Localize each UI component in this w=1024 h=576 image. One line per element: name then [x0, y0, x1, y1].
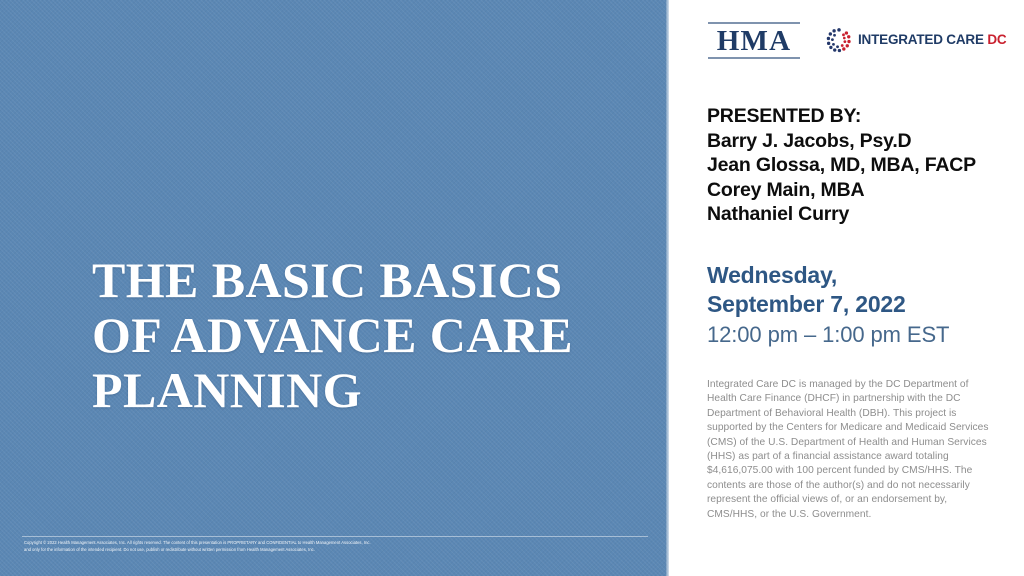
title-panel: The Basic Basics of Advance Care Plannin…: [0, 0, 669, 576]
presenter-name-3: Corey Main, MBA: [707, 178, 1017, 203]
integrated-care-dc-wordmark: INTEGRATED CARE DC: [858, 33, 1006, 47]
hma-logo: HMA: [708, 22, 800, 59]
presenter-name-2: Jean Glossa, MD, MBA, FACP: [707, 153, 1017, 178]
icdc-word-accent: DC: [987, 32, 1006, 47]
copyright-line-2: and only for the information of the inte…: [24, 547, 640, 554]
presented-by-heading: PRESENTED BY:: [707, 104, 1017, 129]
event-date: September 7, 2022: [707, 290, 1017, 319]
presenter-name-1: Barry J. Jacobs, Psy.D: [707, 129, 1017, 154]
icdc-word-primary: INTEGRATED CARE: [858, 32, 984, 47]
hma-rule-bottom: [708, 57, 800, 59]
info-panel: HMA: [669, 0, 1024, 576]
copyright-footer: Copyright © 2022 Health Management Assoc…: [24, 540, 640, 554]
event-datetime-block: Wednesday, September 7, 2022 12:00 pm – …: [707, 261, 1017, 348]
presenter-name-4: Nathaniel Curry: [707, 202, 1017, 227]
logo-row: HMA: [708, 22, 1008, 70]
copyright-line-1: Copyright © 2022 Health Management Assoc…: [24, 540, 640, 547]
footer-divider: [22, 536, 648, 537]
page-title: The Basic Basics of Advance Care Plannin…: [92, 253, 612, 418]
hma-wordmark: HMA: [708, 26, 800, 56]
presentation-title-slide: The Basic Basics of Advance Care Plannin…: [0, 0, 1024, 576]
hma-rule-top: [708, 22, 800, 24]
funding-disclaimer: Integrated Care DC is managed by the DC …: [707, 378, 989, 522]
event-time: 12:00 pm – 1:00 pm EST: [707, 321, 1017, 348]
dot-ring-icon: [825, 26, 853, 54]
presented-by-block: PRESENTED BY: Barry J. Jacobs, Psy.D Jea…: [707, 104, 1017, 227]
event-day: Wednesday,: [707, 261, 1017, 290]
integrated-care-dc-logo: INTEGRATED CARE DC: [825, 26, 1006, 54]
